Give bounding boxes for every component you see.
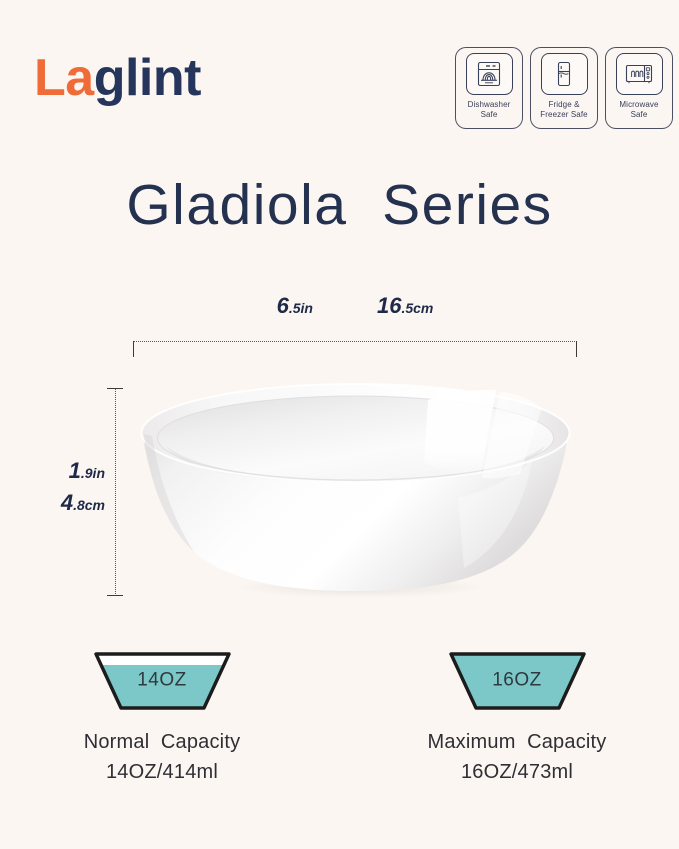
capacity-normal: 14OZ Normal Capacity 14OZ/414ml — [47, 645, 277, 784]
microwave-icon — [616, 53, 663, 95]
height-bracket-line — [115, 388, 116, 596]
height-dimension-bracket — [107, 388, 123, 596]
safety-badge-dishwasher: Dishwasher Safe — [455, 47, 523, 129]
brand-logo: Laglint — [34, 52, 201, 104]
width-bracket-cap-left — [133, 341, 134, 357]
height-bracket-cap-bottom — [107, 595, 123, 596]
width-dimension-bracket — [133, 341, 577, 357]
height-cm-value: 4 — [61, 490, 73, 515]
width-inch-unit: .5in — [289, 300, 313, 316]
bowl-fill-partial-icon: 14OZ — [85, 645, 240, 717]
height-bracket-cap-top — [107, 388, 123, 389]
capacity-oz-label: 14OZ — [85, 670, 240, 692]
safety-badge-fridge-freezer: Fridge & Freezer Safe — [530, 47, 598, 129]
capacity-title: Maximum Capacity — [402, 731, 632, 754]
capacity-section: 14OZ Normal Capacity 14OZ/414ml 16OZ Max… — [0, 645, 679, 784]
page-title: Gladiola Series — [0, 172, 679, 238]
safety-badge-label: Fridge & Freezer Safe — [538, 100, 589, 120]
dishwasher-icon — [466, 53, 513, 95]
height-cm-unit: .8cm — [73, 497, 105, 513]
capacity-maximum: 16OZ Maximum Capacity 16OZ/473ml — [402, 645, 632, 784]
height-inch-value: 1 — [69, 458, 81, 483]
capacity-oz-label: 16OZ — [440, 670, 595, 692]
capacity-title: Normal Capacity — [47, 731, 277, 754]
height-inch-unit: .9in — [81, 465, 105, 481]
safety-badge-label: Dishwasher Safe — [466, 100, 513, 120]
width-cm-unit: .5cm — [401, 300, 433, 316]
width-cm-label: 16.5cm — [377, 293, 433, 319]
fridge-freezer-icon — [541, 53, 588, 95]
width-cm-value: 16 — [377, 293, 401, 318]
width-bracket-line — [133, 341, 577, 342]
capacity-detail: 14OZ/414ml — [47, 761, 277, 784]
safety-badge-group: Dishwasher Safe Fridge & Freezer Safe — [455, 47, 673, 129]
brand-logo-prefix: La — [34, 49, 94, 107]
capacity-detail: 16OZ/473ml — [402, 761, 632, 784]
width-bracket-cap-right — [576, 341, 577, 357]
safety-badge-label: Microwave Safe — [617, 100, 660, 120]
width-inch-value: 6 — [277, 293, 289, 318]
height-cm-label: 4.8cm — [30, 487, 105, 519]
width-inch-label: 6.5in — [277, 293, 313, 319]
height-dimension-labels: 1.9in 4.8cm — [30, 455, 105, 519]
bowl-fill-full-icon: 16OZ — [440, 645, 595, 717]
safety-badge-microwave: Microwave Safe — [605, 47, 673, 129]
product-bowl-image — [128, 378, 583, 603]
height-inch-label: 1.9in — [30, 455, 105, 487]
brand-logo-suffix: glint — [94, 49, 201, 107]
width-dimension-labels: 6.5in 16.5cm — [133, 293, 577, 319]
